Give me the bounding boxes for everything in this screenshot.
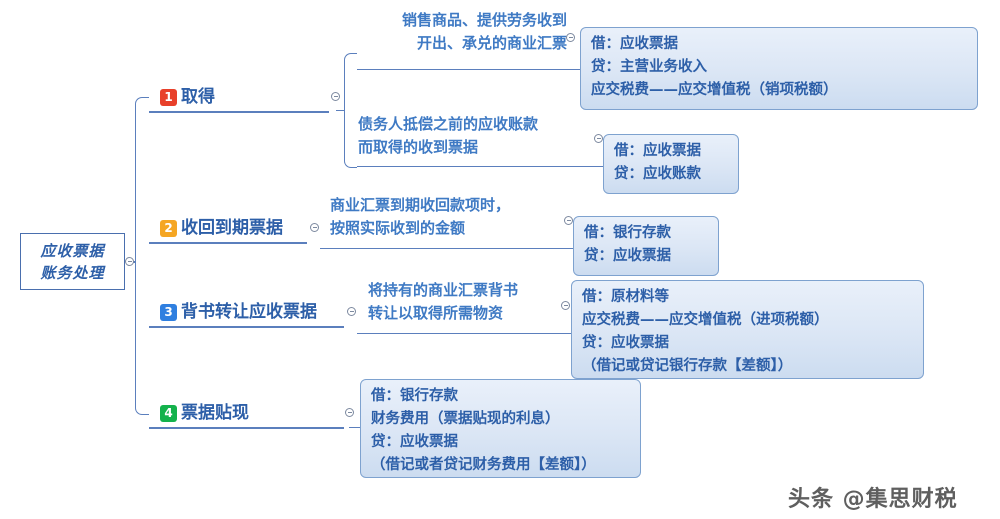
branch-2-description: 商业汇票到期收回款项时， 按照实际收到的金额	[330, 194, 560, 240]
branch-1b-description: 债务人抵偿之前的应收账款 而取得的收到票据	[358, 113, 583, 159]
branch-1b-line	[357, 166, 597, 167]
topic-badge-2: 2	[160, 220, 177, 237]
topic-1-subbracket	[344, 53, 357, 168]
topic-4-collapse-knob[interactable]	[345, 408, 354, 417]
topic-label-3: 背书转让应收票据	[181, 302, 317, 322]
topic-node-2[interactable]: 2 收回到期票据	[149, 213, 307, 243]
topic-label-4: 票据贴现	[181, 403, 249, 423]
entry-box-3[interactable]: 借：原材料等 应交税费——应交增值税（进项税额） 贷：应收票据 （借记或贷记银行…	[571, 280, 924, 379]
entry-box-1b[interactable]: 借：应收票据 贷：应收账款	[603, 134, 739, 194]
watermark: 头条 @集思财税	[788, 481, 958, 513]
topic-badge-4: 4	[160, 405, 177, 422]
branch-3-collapse-knob[interactable]	[561, 301, 570, 310]
topic-3-collapse-knob[interactable]	[347, 307, 356, 316]
branch-1b-collapse-knob[interactable]	[594, 134, 603, 143]
topic-badge-1: 1	[160, 89, 177, 106]
entry-box-1a[interactable]: 借：应收票据 贷：主营业务收入 应交税费——应交增值税（销项税额）	[580, 27, 978, 110]
entry-box-2[interactable]: 借：银行存款 贷：应收票据	[573, 216, 719, 276]
topic-label-2: 收回到期票据	[181, 218, 283, 238]
topic-underline-3	[149, 326, 344, 328]
topic-node-3[interactable]: 3 背书转让应收票据	[149, 297, 344, 327]
topic-node-1[interactable]: 1 取得	[149, 82, 329, 112]
topic-2-collapse-knob[interactable]	[310, 223, 319, 232]
topic-underline-2	[149, 242, 307, 244]
branch-2-line	[320, 248, 568, 249]
topic-1-collapse-knob[interactable]	[331, 92, 340, 101]
branch-2-collapse-knob[interactable]	[564, 216, 573, 225]
root-node-line2: 账务处理	[40, 262, 104, 284]
branch-1a-collapse-knob[interactable]	[566, 33, 575, 42]
root-node-line1: 应收票据	[40, 240, 104, 262]
root-node[interactable]: 应收票据 账务处理	[20, 233, 125, 290]
branch-3-description: 将持有的商业汇票背书 转让以取得所需物资	[368, 279, 570, 325]
topic-label-1: 取得	[181, 87, 215, 107]
topic-underline-1	[149, 111, 329, 113]
mindmap-canvas: 应收票据 账务处理 1 取得 销售商品、提供劳务收到 开出、承兑的商业汇票 借：…	[0, 0, 1000, 519]
root-collapse-knob[interactable]	[125, 257, 134, 266]
level1-bracket	[135, 97, 149, 415]
topic-1-substem	[336, 110, 345, 111]
branch-1a-description: 销售商品、提供劳务收到 开出、承兑的商业汇票	[340, 9, 567, 55]
topic-badge-3: 3	[160, 304, 177, 321]
branch-1a-line	[357, 69, 569, 70]
topic-node-4[interactable]: 4 票据贴现	[149, 398, 344, 428]
entry-box-4[interactable]: 借：银行存款 财务费用（票据贴现的利息） 贷：应收票据 （借记或者贷记财务费用【…	[360, 379, 641, 478]
topic-underline-4	[149, 427, 344, 429]
branch-3-line	[357, 333, 566, 334]
